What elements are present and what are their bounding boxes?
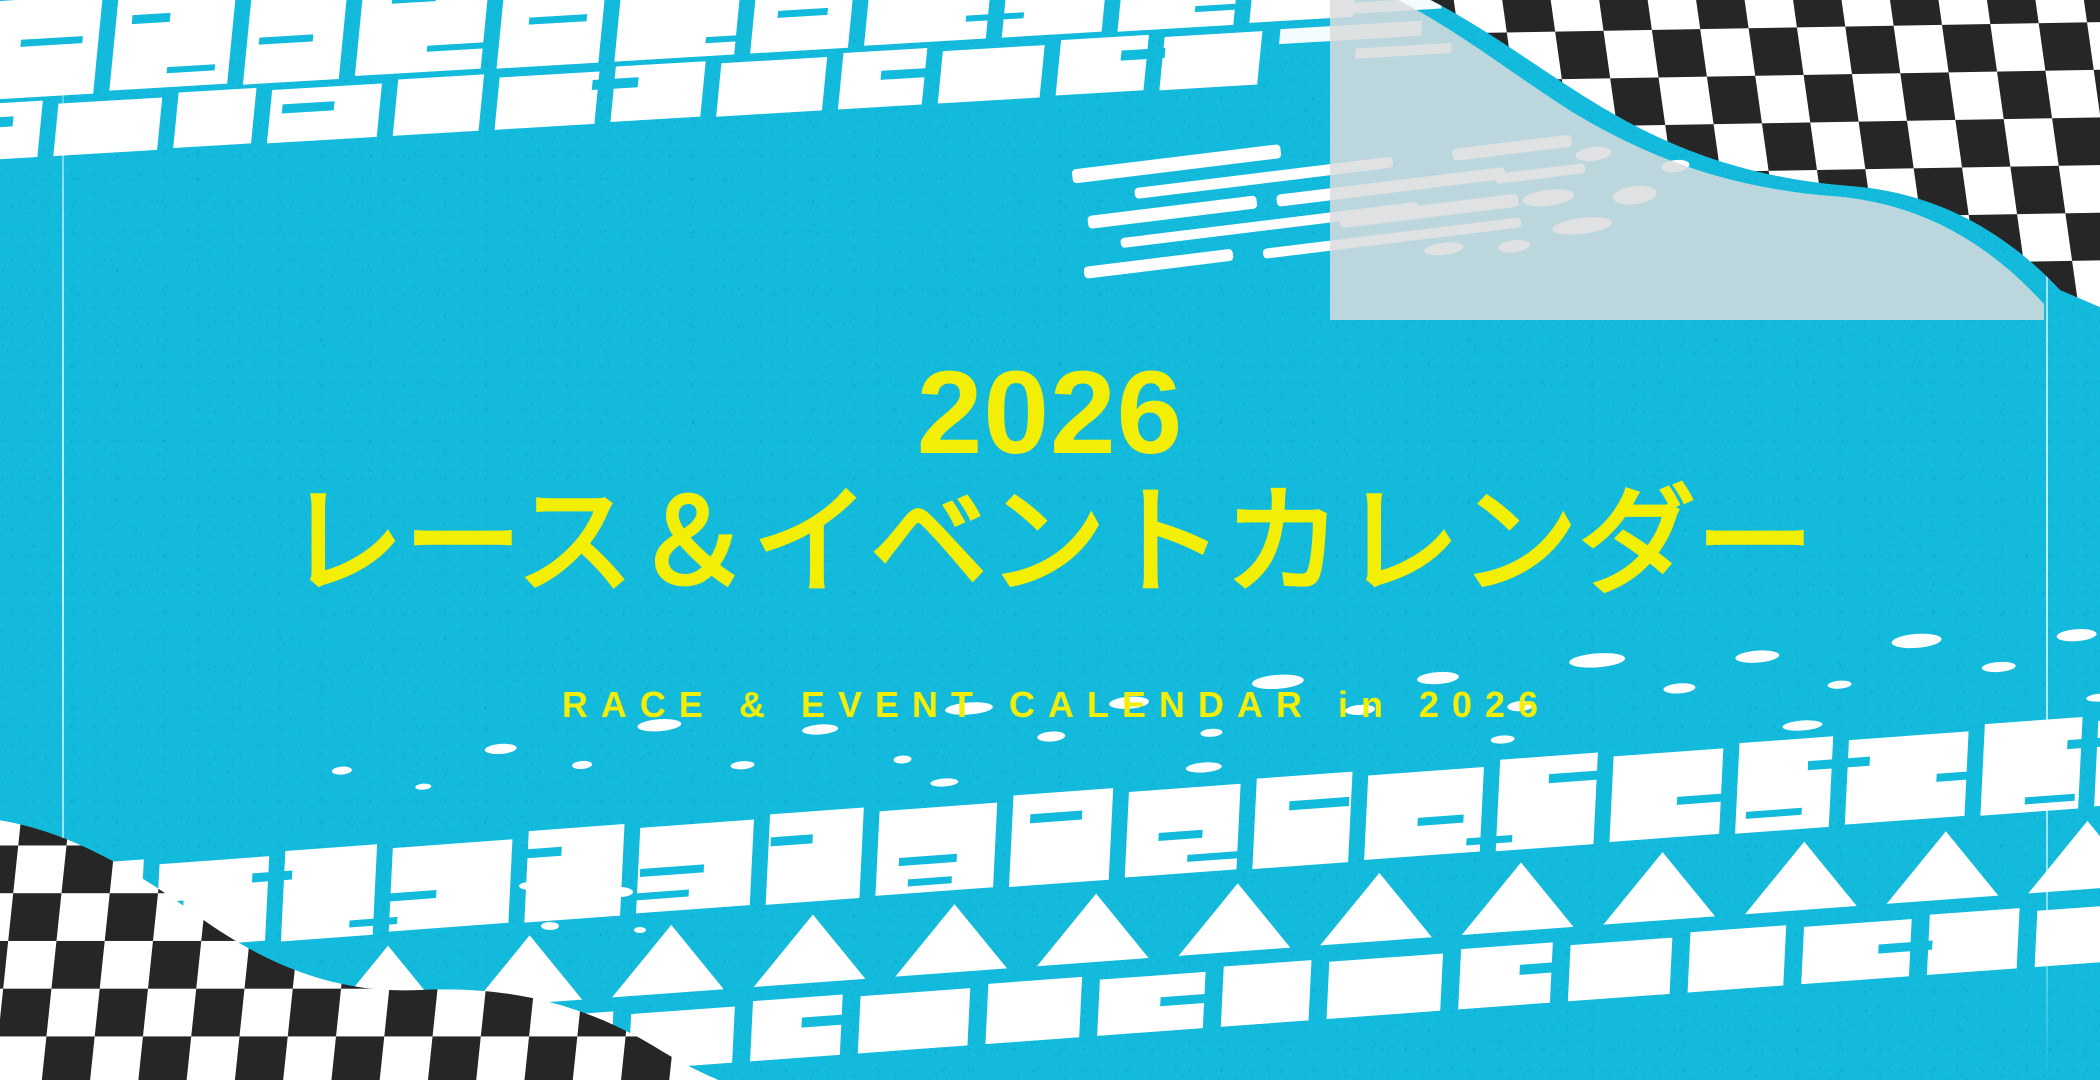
page-subtitle: RACE & EVENT CALENDAR in 2026: [549, 684, 1551, 726]
banner-content: 2026 レース＆イベントカレンダー RACE & EVENT CALENDAR…: [0, 0, 2100, 1080]
page-title-year: 2026: [917, 354, 1184, 472]
page-title-jp: レース＆イベントカレンダー: [286, 476, 1814, 611]
race-calendar-banner: 2026 レース＆イベントカレンダー RACE & EVENT CALENDAR…: [0, 0, 2100, 1080]
